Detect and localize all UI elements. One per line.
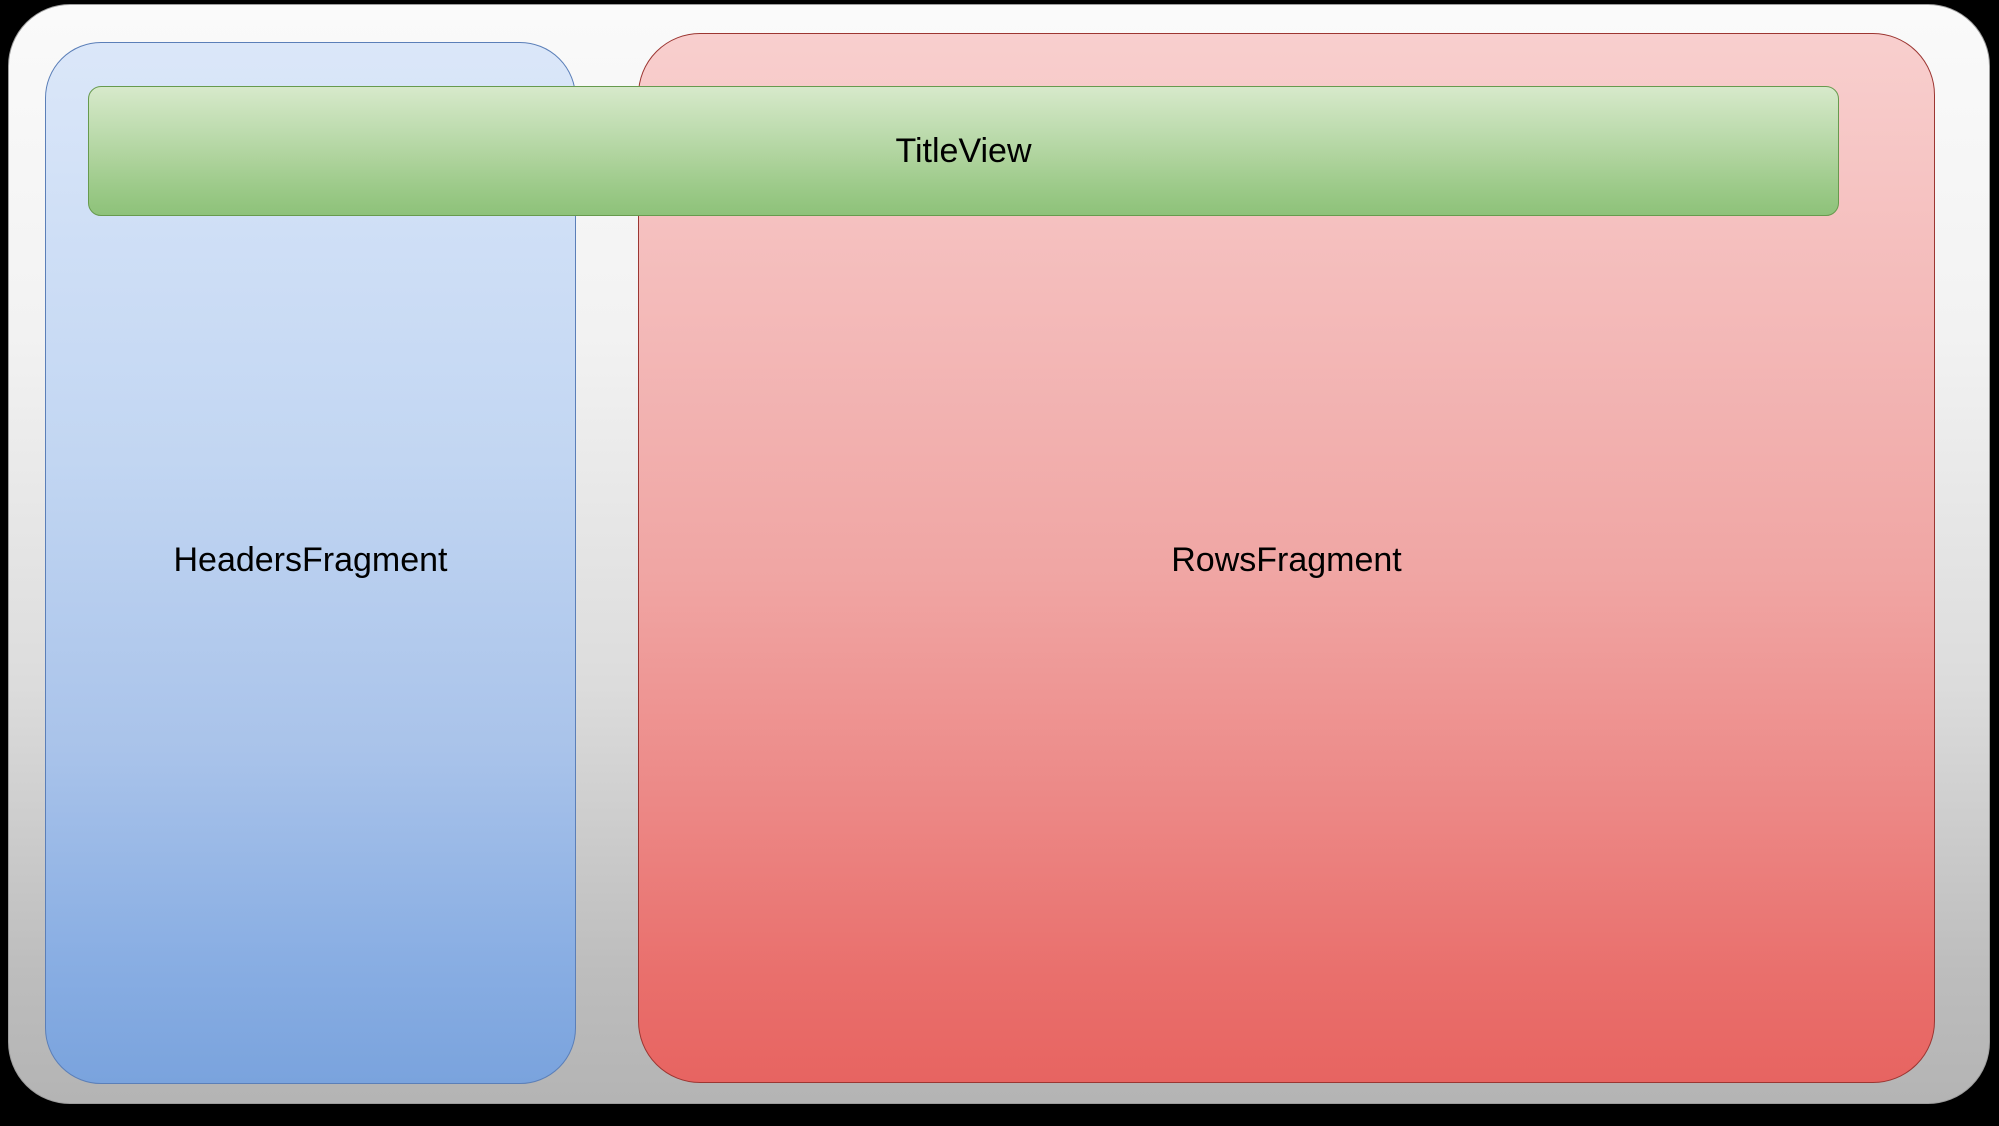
title-view-bar[interactable]: TitleView bbox=[88, 86, 1839, 216]
diagram-canvas: TitleView HeadersFragment RowsFragment bbox=[0, 0, 1999, 1126]
title-view-label: TitleView bbox=[895, 134, 1031, 168]
rows-fragment-label: RowsFragment bbox=[638, 543, 1935, 577]
headers-fragment-label: HeadersFragment bbox=[45, 543, 576, 577]
